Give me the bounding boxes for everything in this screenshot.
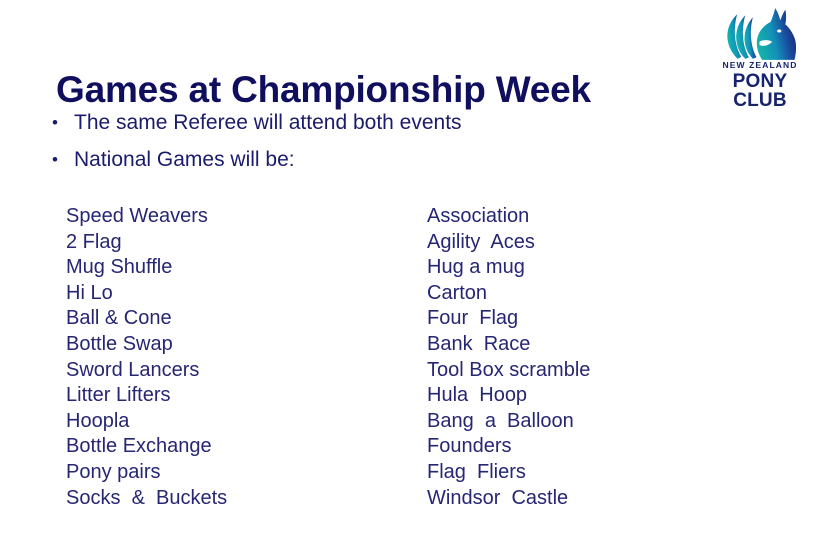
nz-pony-club-logo: NEW ZEALAND PONY CLUB (708, 6, 812, 92)
games-right-column: Association Agility Aces Hug a mug Carto… (427, 204, 590, 511)
list-item: Ball & Cone (66, 306, 227, 332)
horse-head-icon (722, 6, 798, 62)
list-item: Windsor Castle (427, 486, 590, 512)
list-item: Carton (427, 281, 590, 307)
list-item: Hug a mug (427, 255, 590, 281)
bullet-text: The same Referee will attend both events (74, 112, 462, 133)
page-title: Games at Championship Week (56, 69, 591, 110)
list-item: Litter Lifters (66, 383, 227, 409)
list-item: Hula Hoop (427, 383, 590, 409)
bullet-item: • The same Referee will attend both even… (52, 112, 692, 133)
bullet-list: • The same Referee will attend both even… (52, 112, 692, 187)
list-item: Pony pairs (66, 460, 227, 486)
list-item: Bottle Exchange (66, 434, 227, 460)
list-item: Socks & Buckets (66, 486, 227, 512)
slide-canvas: Games at Championship Week • The same Re… (0, 0, 828, 554)
list-item: Four Flag (427, 306, 590, 332)
list-item: Hi Lo (66, 281, 227, 307)
bullet-dot-icon: • (52, 149, 74, 170)
logo-line-pony-club: PONY CLUB (708, 72, 812, 110)
list-item: Founders (427, 434, 590, 460)
list-item: Association (427, 204, 590, 230)
list-item: Bang a Balloon (427, 409, 590, 435)
list-item: Flag Fliers (427, 460, 590, 486)
logo-line-new-zealand: NEW ZEALAND (708, 61, 812, 70)
list-item: Bottle Swap (66, 332, 227, 358)
list-item: 2 Flag (66, 230, 227, 256)
logo-wordmark: NEW ZEALAND PONY CLUB (708, 61, 812, 110)
list-item: Agility Aces (427, 230, 590, 256)
list-item: Sword Lancers (66, 358, 227, 384)
list-item: Tool Box scramble (427, 358, 590, 384)
bullet-item: • National Games will be: (52, 149, 692, 170)
list-item: Hoopla (66, 409, 227, 435)
bullet-dot-icon: • (52, 112, 74, 133)
games-left-column: Speed Weavers 2 Flag Mug Shuffle Hi Lo B… (66, 204, 227, 511)
list-item: Speed Weavers (66, 204, 227, 230)
list-item: Bank Race (427, 332, 590, 358)
list-item: Mug Shuffle (66, 255, 227, 281)
bullet-text: National Games will be: (74, 149, 295, 170)
